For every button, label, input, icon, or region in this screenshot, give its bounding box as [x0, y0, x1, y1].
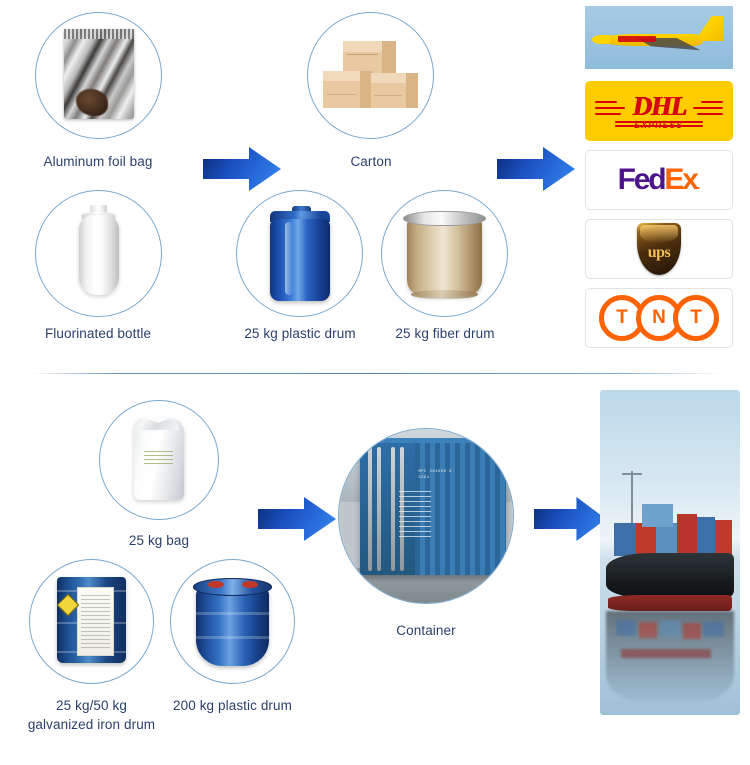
fiber-drum-25kg-label: 25 kg fiber drum [355, 324, 535, 343]
ups-tile[interactable]: ups [585, 219, 733, 279]
tnt-letter-3: T [673, 295, 719, 341]
aluminum-foil-bag-label: Aluminum foil bag [8, 152, 188, 171]
iron-drum-circle[interactable] [29, 559, 154, 684]
carton-circle[interactable] [307, 12, 434, 139]
fedex-logo-icon: FedEx. [618, 165, 701, 195]
fedex-dot: . [697, 177, 701, 192]
jerrycan-icon [237, 191, 362, 316]
carton-label: Carton [281, 152, 461, 171]
fiber-drum-25kg-circle[interactable] [381, 190, 508, 317]
airplane-icon [585, 6, 733, 69]
plastic-drum-25kg-circle[interactable] [236, 190, 363, 317]
carton-icon [308, 13, 433, 138]
fedex-tile[interactable]: FedEx. [585, 150, 733, 210]
dhl-express-sublabel: EXPRESS [635, 121, 684, 130]
bag-25kg-circle[interactable] [99, 400, 219, 520]
ups-wordmark: ups [648, 244, 671, 262]
fedex-fed-text: Fed [618, 163, 665, 196]
arrow-inner-to-outer [203, 145, 281, 193]
cargo-ship-tile[interactable] [600, 390, 740, 715]
bag-25kg-label: 25 kg bag [69, 531, 249, 550]
tnt-tile[interactable]: T N T [585, 288, 733, 348]
fiber-drum-icon [382, 191, 507, 316]
arrow-outer-to-courier [497, 145, 575, 193]
iron-drum-icon [30, 560, 153, 683]
foil-bag-icon [36, 13, 161, 138]
plastic-drum-200kg-label: 200 kg plastic drum [142, 696, 323, 715]
fluorinated-bottle-label: Fluorinated bottle [8, 324, 188, 343]
woven-sack-icon [100, 401, 218, 519]
tnt-logo-icon: T N T [599, 295, 719, 341]
blue-drum-icon [171, 560, 294, 683]
fluorinated-bottle-circle[interactable] [35, 190, 162, 317]
bottle-icon [36, 191, 161, 316]
dhl-express-tile[interactable]: DHL EXPRESS [585, 81, 733, 141]
dhl-plane-tile[interactable] [585, 6, 733, 69]
packaging-shipping-infographic: Aluminum foil bag Fluorinated bottle [0, 0, 750, 765]
section-divider [32, 373, 722, 374]
fedex-ex-text: Ex [664, 163, 696, 196]
container-circle[interactable]: MPC 2810D6 622G1 [338, 428, 514, 604]
dhl-wordmark: DHL [632, 93, 685, 120]
plastic-drum-200kg-circle[interactable] [170, 559, 295, 684]
aluminum-foil-bag-circle[interactable] [35, 12, 162, 139]
shipping-container-icon: MPC 2810D6 622G1 [339, 429, 513, 603]
container-ship-icon [600, 390, 740, 715]
arrow-container-to-ship [534, 495, 606, 543]
ups-logo-icon: ups [637, 223, 681, 275]
container-label: Container [336, 621, 516, 640]
arrow-packaging-to-container [258, 495, 336, 543]
